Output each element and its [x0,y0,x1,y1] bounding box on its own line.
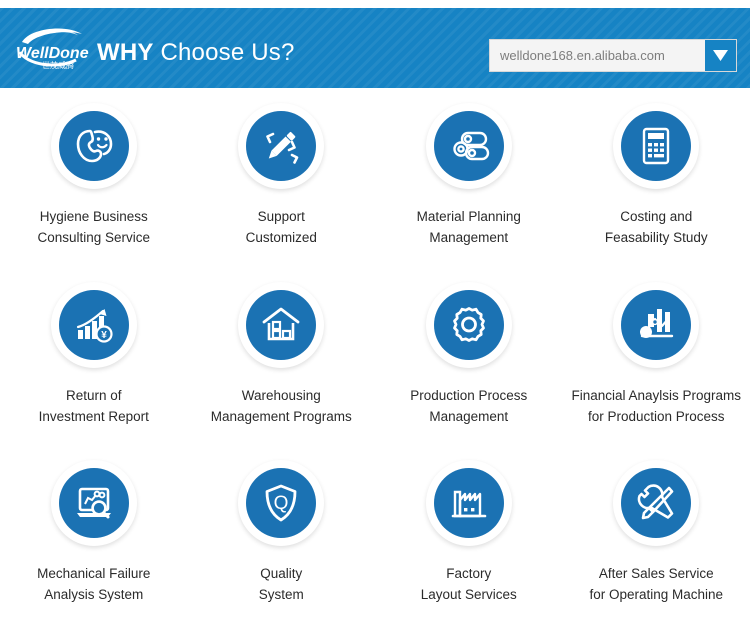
icon-badge [426,103,512,189]
feature-item[interactable]: Support Customized [188,88,376,267]
title-light: Choose Us? [160,39,294,66]
factory-icon [434,468,504,538]
feature-label: Material Planning Management [417,206,521,248]
icon-badge: Q [238,460,324,546]
svg-text:¥: ¥ [101,330,107,341]
icon-badge [426,460,512,546]
url-bar[interactable]: welldone168.en.alibaba.com [489,39,737,72]
feature-item[interactable]: ¥ Return of Investment Report [0,267,188,446]
feature-item[interactable]: Production Process Management [375,267,563,446]
financial-analysis-chart-icon [621,290,691,360]
feature-label: Costing and Feasability Study [605,206,708,248]
feature-label: Return of Investment Report [39,385,149,427]
welldone-logo: WellDone 世茂威腾 [14,22,96,74]
feature-item[interactable]: Warehousing Management Programs [188,267,376,446]
feature-label: Financial Anaylsis Programs for Producti… [571,385,741,427]
feature-label: Support Customized [246,206,317,248]
svg-text:Q: Q [274,493,289,514]
icon-badge [238,282,324,368]
promo-banner: WellDone 世茂威腾 WHY Choose Us? welldone168… [0,0,750,624]
feature-label: Production Process Management [410,385,527,427]
icon-badge [426,282,512,368]
feature-label: Hygiene Business Consulting Service [37,206,150,248]
header-bar: WellDone 世茂威腾 WHY Choose Us? welldone168… [0,8,750,88]
pencil-customize-icon [246,111,316,181]
feature-grid: Hygiene Business Consulting Service [0,88,750,624]
icon-badge: ¥ [51,282,137,368]
icon-badge [613,460,699,546]
page-title: WHY Choose Us? [97,39,295,67]
feature-item[interactable]: Hygiene Business Consulting Service [0,88,188,267]
icon-badge [51,103,137,189]
growth-chart-yen-icon: ¥ [59,290,129,360]
shield-q-icon: Q [246,468,316,538]
feature-item[interactable]: After Sales Service for Operating Machin… [563,445,750,624]
phone-smiley-icon [59,111,129,181]
laptop-search-icon [59,468,129,538]
svg-text:WellDone: WellDone [16,45,89,62]
url-text[interactable]: welldone168.en.alibaba.com [500,48,705,63]
feature-label: Quality System [259,563,304,605]
calculator-icon [621,111,691,181]
feature-item[interactable]: Factory Layout Services [375,445,563,624]
gear-icon [434,290,504,360]
icon-badge [613,282,699,368]
icon-badge [238,103,324,189]
icon-badge [613,103,699,189]
feature-item[interactable]: Costing and Feasability Study [563,88,750,267]
feature-label: Warehousing Management Programs [211,385,352,427]
wrench-screwdriver-icon [621,468,691,538]
material-rolls-icon [434,111,504,181]
title-strong: WHY [97,39,154,66]
feature-item[interactable]: Financial Anaylsis Programs for Producti… [563,267,750,446]
feature-label: After Sales Service for Operating Machin… [589,563,723,605]
feature-label: Mechanical Failure Analysis System [37,563,150,605]
icon-badge [51,460,137,546]
feature-item[interactable]: Material Planning Management [375,88,563,267]
chevron-down-icon[interactable] [705,40,736,71]
warehouse-icon [246,290,316,360]
feature-label: Factory Layout Services [421,563,517,605]
feature-item[interactable]: Q Quality System [188,445,376,624]
feature-item[interactable]: Mechanical Failure Analysis System [0,445,188,624]
svg-text:世茂威腾: 世茂威腾 [42,60,74,70]
